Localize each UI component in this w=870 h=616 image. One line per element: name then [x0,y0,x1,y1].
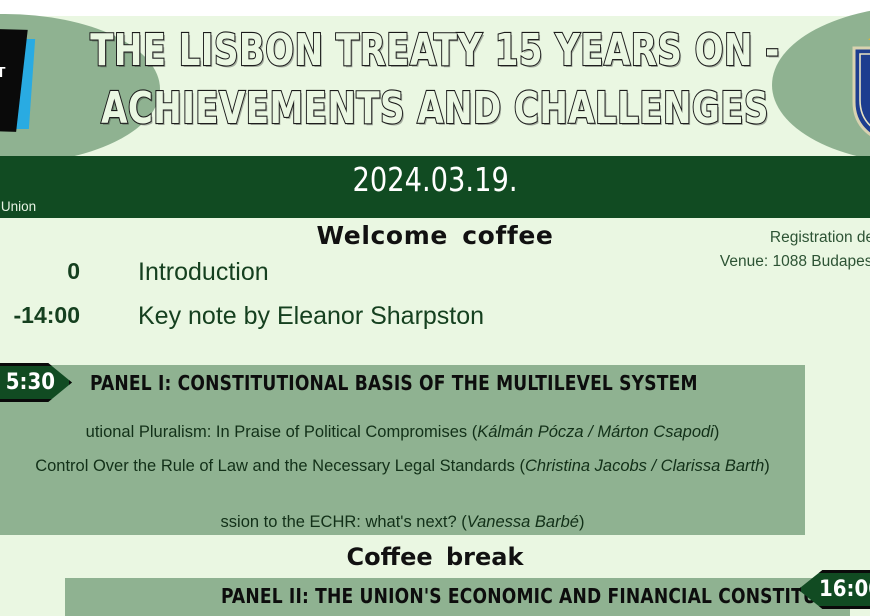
schedule-label: Key note by Eleanor Sharpston [138,302,484,331]
panel-1-item-suffix: ) [714,423,720,441]
panel-1-item-suffix: ) [764,457,770,475]
panel-2-title: PANEL II: THE UNION'S ECONOMIC AND FINAN… [221,584,865,608]
panel-1-item: Control Over the Rule of Law and the Nec… [0,455,805,478]
coffee-break-label: Coffee break [0,543,870,571]
poster-title-line-1: THE LISBON TREATY 15 YEARS ON - [61,22,809,80]
event-info: Registration deadline: 1 M Venue: 1088 B… [330,226,870,274]
event-date: 2024.03.19. [35,160,835,199]
panel-1-item: utional Pluralism: In Praise of Politica… [0,421,805,444]
panel-1-item-text: utional Pluralism: In Praise of Politica… [86,423,478,441]
panel-1-item-text: ssion to the ECHR: what's next? ( [221,513,467,531]
schedule-label: Introduction [138,258,269,287]
band-subtext: the European Union [0,199,36,214]
poster-title: THE LISBON TREATY 15 YEARS ON - ACHIEVEM… [0,22,870,138]
panel-1-item-speakers: Vanessa Barbé [467,513,579,531]
panel-1-title: PANEL I: CONSTITUTIONAL BASIS OF THE MUL… [90,371,698,395]
panel-1-item-speakers: Christina Jacobs / Clarissa Barth [525,457,764,475]
top-white-strip [0,0,870,16]
schedule-time: -14:00 [0,302,80,329]
panel-2-time-text: 16:00 [819,577,870,602]
panel-1-item: ssion to the ECHR: what's next? (Vanessa… [0,511,805,534]
venue-address: Venue: 1088 Budapest, Szentkirá [330,250,870,274]
panel-1-item-speakers: Kálmán Pócza / Márton Csapodi [477,423,714,441]
panel-1-item-text: Control Over the Rule of Law and the Nec… [35,457,525,475]
panel-2-body [65,611,850,616]
schedule-time: 0 [0,258,80,285]
conference-poster: SITÄT haftliche THE LISBON TREATY 15 YEA… [0,0,870,616]
panel-1-time-text: 5:30 [6,370,55,395]
date-band: 2024.03.19. the European Union [0,156,870,218]
panel-1-item-suffix: ) [579,513,585,531]
registration-deadline: Registration deadline: 1 M [330,226,870,250]
poster-title-line-2: ACHIEVEMENTS AND CHALLENGES [61,80,809,138]
